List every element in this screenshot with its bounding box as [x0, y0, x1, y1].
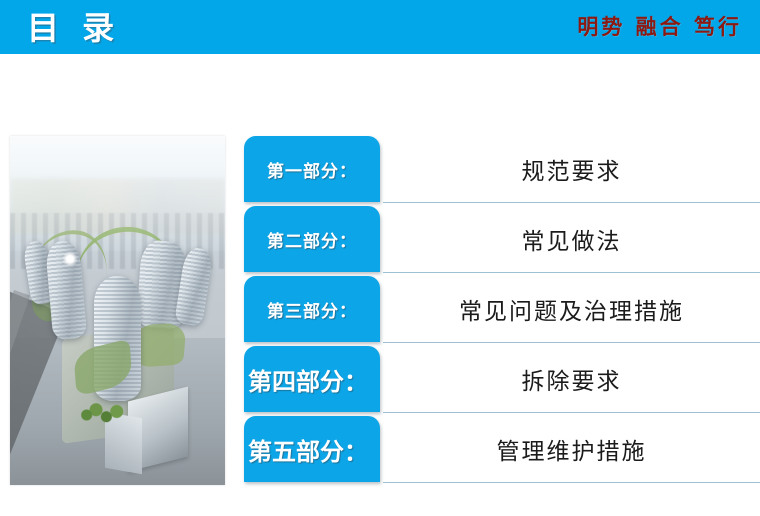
- row-divider: [383, 342, 760, 343]
- page-title: 目 录: [27, 6, 120, 50]
- section-title: 常见做法: [383, 206, 760, 272]
- row-divider: [383, 202, 760, 203]
- trees-layer: [81, 394, 128, 429]
- sun-flare-icon: [62, 251, 78, 267]
- section-tag-label: 第五部分：: [233, 416, 383, 482]
- list-item[interactable]: 第五部分： 管理维护措施: [244, 416, 760, 486]
- list-item[interactable]: 第三部分： 常见问题及治理措施: [244, 276, 760, 346]
- section-title: 管理维护措施: [383, 416, 760, 482]
- header-bar: 目 录 明势 融合 笃行: [0, 0, 760, 54]
- list-item[interactable]: 第二部分： 常见做法: [244, 206, 760, 276]
- row-divider: [383, 482, 760, 483]
- section-tag-label: 第二部分：: [244, 206, 380, 272]
- row-divider: [383, 272, 760, 273]
- list-item[interactable]: 第一部分： 规范要求: [244, 136, 760, 206]
- section-tag-label: 第四部分：: [233, 346, 383, 412]
- building-rendering-image: [10, 136, 225, 485]
- section-title: 规范要求: [383, 136, 760, 202]
- section-title: 拆除要求: [383, 346, 760, 412]
- row-divider: [383, 412, 760, 413]
- section-tag-label: 第一部分：: [244, 136, 380, 202]
- table-of-contents: 第一部分： 规范要求 第二部分： 常见做法 第三部分： 常见问题及治理措施 第四…: [244, 136, 760, 486]
- header-slogan: 明势 融合 笃行: [577, 8, 742, 46]
- section-tag-label: 第三部分：: [244, 276, 380, 342]
- list-item[interactable]: 第四部分： 拆除要求: [244, 346, 760, 416]
- photo-canvas: [10, 136, 225, 485]
- section-title: 常见问题及治理措施: [383, 276, 760, 342]
